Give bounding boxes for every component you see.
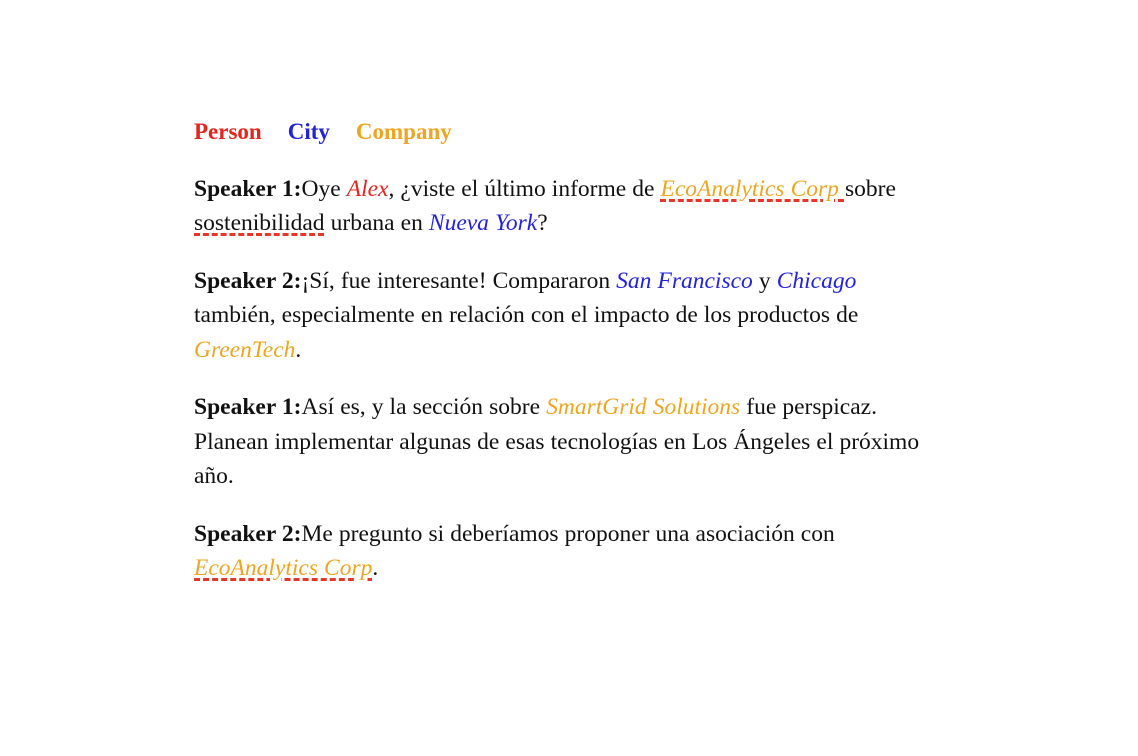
legend-item-company: Company <box>356 118 452 146</box>
entity-city[interactable]: Nueva York <box>429 210 537 236</box>
body-text: , ¿viste el último informe de <box>388 176 660 202</box>
transcript-turn: Speaker 1:Oye Alex, ¿viste el último inf… <box>194 172 924 241</box>
body-text: sobre <box>845 176 896 202</box>
body-text: ? <box>537 210 547 236</box>
body-text: . <box>295 337 301 363</box>
entity-city[interactable]: San Francisco <box>616 268 753 294</box>
entity-company[interactable]: EcoAnalytics Corp <box>194 555 372 581</box>
entity-company[interactable]: SmartGrid Solutions <box>546 394 740 420</box>
body-text: y <box>753 268 777 294</box>
entity-legend: PersonCityCompany <box>194 118 924 146</box>
document-content: PersonCityCompany Speaker 1:Oye Alex, ¿v… <box>194 118 924 586</box>
body-text: Me pregunto si deberíamos proponer una a… <box>301 521 834 547</box>
speaker-label: Speaker 1: <box>194 394 301 420</box>
entity-person[interactable]: Alex <box>347 176 389 202</box>
legend-item-person: Person <box>194 118 262 146</box>
body-text: ¡Sí, fue interesante! Compararon <box>301 268 616 294</box>
transcript-turn: Speaker 2:¡Sí, fue interesante! Comparar… <box>194 264 924 368</box>
transcript-turn: Speaker 1:Así es, y la sección sobre Sma… <box>194 390 924 494</box>
body-text: urbana en <box>325 210 429 236</box>
body-text: . <box>372 555 378 581</box>
speaker-label: Speaker 2: <box>194 268 301 294</box>
document-page: PersonCityCompany Speaker 1:Oye Alex, ¿v… <box>0 0 1138 756</box>
entity-city[interactable]: Chicago <box>777 268 857 294</box>
entity-company[interactable]: EcoAnalytics Corp <box>661 176 845 202</box>
speaker-label: Speaker 1: <box>194 176 301 202</box>
misspelled-word: sostenibilidad <box>194 210 325 236</box>
body-text: Oye <box>301 176 346 202</box>
body-text: también, especialmente en relación con e… <box>194 302 858 328</box>
body-text: Así es, y la sección sobre <box>301 394 546 420</box>
transcript: Speaker 1:Oye Alex, ¿viste el último inf… <box>194 172 924 586</box>
speaker-label: Speaker 2: <box>194 521 301 547</box>
legend-item-city: City <box>288 118 330 146</box>
transcript-turn: Speaker 2:Me pregunto si deberíamos prop… <box>194 517 924 586</box>
entity-company[interactable]: GreenTech <box>194 337 295 363</box>
